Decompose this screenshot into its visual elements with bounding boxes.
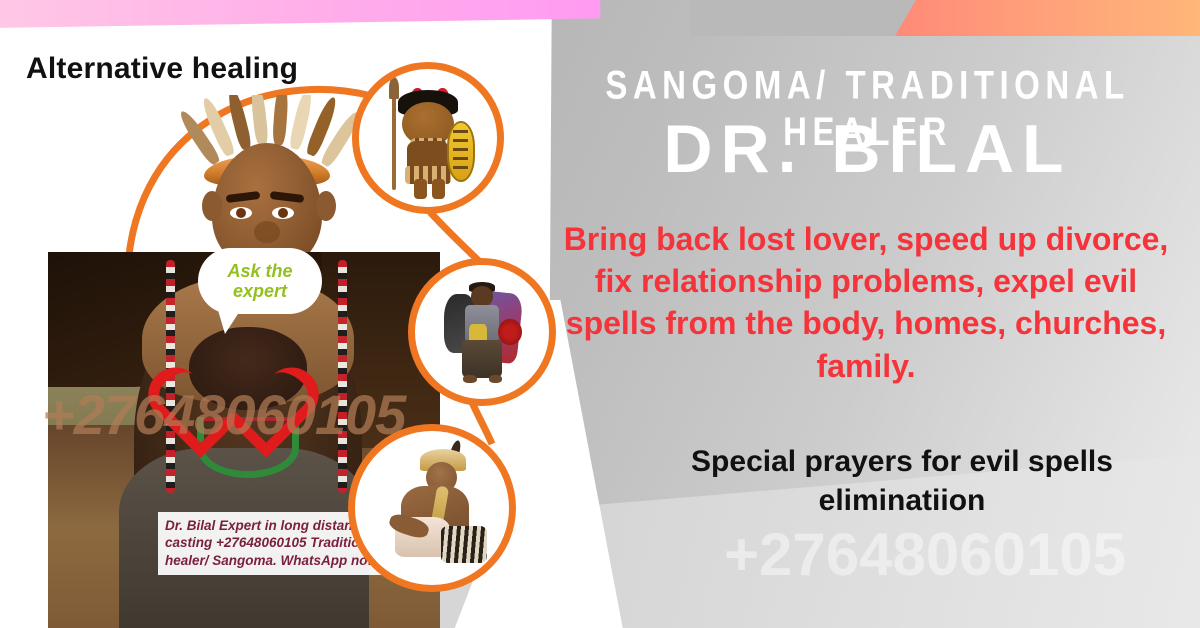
page-title: Alternative healing xyxy=(26,52,298,86)
speech-bubble-tail xyxy=(215,300,247,334)
circle-photo-zulu-warrior xyxy=(352,62,504,214)
ask-the-expert-text: Ask the expert xyxy=(198,261,322,301)
circle-photo-crouching-healer xyxy=(348,424,516,592)
services-text: Bring back lost lover, speed up divorce,… xyxy=(546,218,1186,387)
special-offer-text: Special prayers for evil spells eliminat… xyxy=(612,442,1192,520)
circle-photo-traditional-attire xyxy=(408,258,556,406)
poster-canvas: Alternative healing As xyxy=(0,0,1200,628)
headline-name: DR. BILAL xyxy=(555,110,1180,188)
top-orange-strip xyxy=(895,0,1200,36)
phone-watermark: +27648060105 xyxy=(650,520,1200,589)
